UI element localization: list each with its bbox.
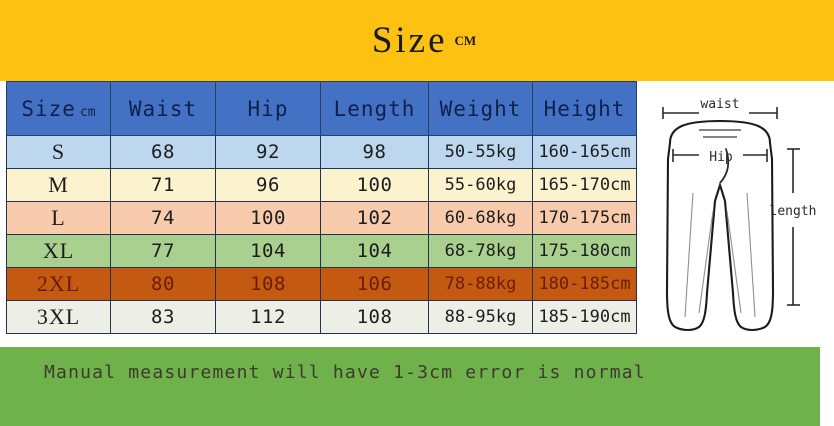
cell-height: 185-190cm [533, 301, 637, 334]
cell-length: 102 [321, 202, 429, 235]
column-header-weight: Weight [429, 82, 533, 136]
cell-hip: 100 [216, 202, 321, 235]
cell-height: 170-175cm [533, 202, 637, 235]
hip-label: Hip [709, 150, 733, 165]
pants-diagram-panel: waist [637, 81, 834, 347]
table-row: L 74 100 102 60-68kg 170-175cm [7, 202, 637, 235]
cell-height: 175-180cm [533, 235, 637, 268]
cell-weight: 88-95kg [429, 301, 533, 334]
cell-length: 104 [321, 235, 429, 268]
page-title: Size [372, 22, 448, 59]
cell-waist: 83 [111, 301, 216, 334]
size-table: Sizecm Waist Hip Length Weight Height S … [6, 81, 637, 334]
header-title-wrap: Size CM [0, 0, 834, 81]
column-header-hip: Hip [216, 82, 321, 136]
column-header-size-label: Size [21, 97, 76, 121]
column-header-size-unit: cm [80, 105, 96, 120]
column-header-waist: Waist [111, 82, 216, 136]
cell-waist: 77 [111, 235, 216, 268]
cell-hip: 112 [216, 301, 321, 334]
cell-size: XL [7, 235, 111, 268]
column-header-size: Sizecm [7, 82, 111, 136]
cell-size: 3XL [7, 301, 111, 334]
cell-waist: 80 [111, 268, 216, 301]
cell-length: 98 [321, 136, 429, 169]
table-row: M 71 96 100 55-60kg 165-170cm [7, 169, 637, 202]
cell-length: 100 [321, 169, 429, 202]
cell-size: S [7, 136, 111, 169]
cell-hip: 92 [216, 136, 321, 169]
waist-label: waist [700, 97, 739, 112]
header-banner: Size CM [0, 0, 834, 81]
pants-diagram: waist [637, 81, 834, 347]
cell-size: M [7, 169, 111, 202]
cell-hip: 104 [216, 235, 321, 268]
cell-size: L [7, 202, 111, 235]
cell-weight: 78-88kg [429, 268, 533, 301]
table-row: S 68 92 98 50-55kg 160-165cm [7, 136, 637, 169]
cell-size: 2XL [7, 268, 111, 301]
cell-waist: 71 [111, 169, 216, 202]
cell-weight: 55-60kg [429, 169, 533, 202]
size-table-container: Sizecm Waist Hip Length Weight Height S … [6, 81, 636, 347]
column-header-length: Length [321, 82, 429, 136]
length-label: length [770, 204, 817, 219]
table-header-row: Sizecm Waist Hip Length Weight Height [7, 82, 637, 136]
length-dimension-arrow [787, 149, 800, 305]
cell-weight: 50-55kg [429, 136, 533, 169]
table-row: XL 77 104 104 68-78kg 175-180cm [7, 235, 637, 268]
table-row: 3XL 83 112 108 88-95kg 185-190cm [7, 301, 637, 334]
cell-length: 106 [321, 268, 429, 301]
cell-height: 180-185cm [533, 268, 637, 301]
cell-weight: 68-78kg [429, 235, 533, 268]
cell-height: 165-170cm [533, 169, 637, 202]
cell-waist: 74 [111, 202, 216, 235]
cell-length: 108 [321, 301, 429, 334]
cell-height: 160-165cm [533, 136, 637, 169]
cell-waist: 68 [111, 136, 216, 169]
page-title-unit: CM [455, 33, 477, 49]
table-row: 2XL 80 108 106 78-88kg 180-185cm [7, 268, 637, 301]
measurement-note: Manual measurement will have 1-3cm error… [44, 355, 744, 389]
cell-hip: 96 [216, 169, 321, 202]
cell-hip: 108 [216, 268, 321, 301]
size-chart-page: Size CM Sizecm Waist Hip Length Weight H… [0, 0, 834, 426]
cell-weight: 60-68kg [429, 202, 533, 235]
column-header-height: Height [533, 82, 637, 136]
